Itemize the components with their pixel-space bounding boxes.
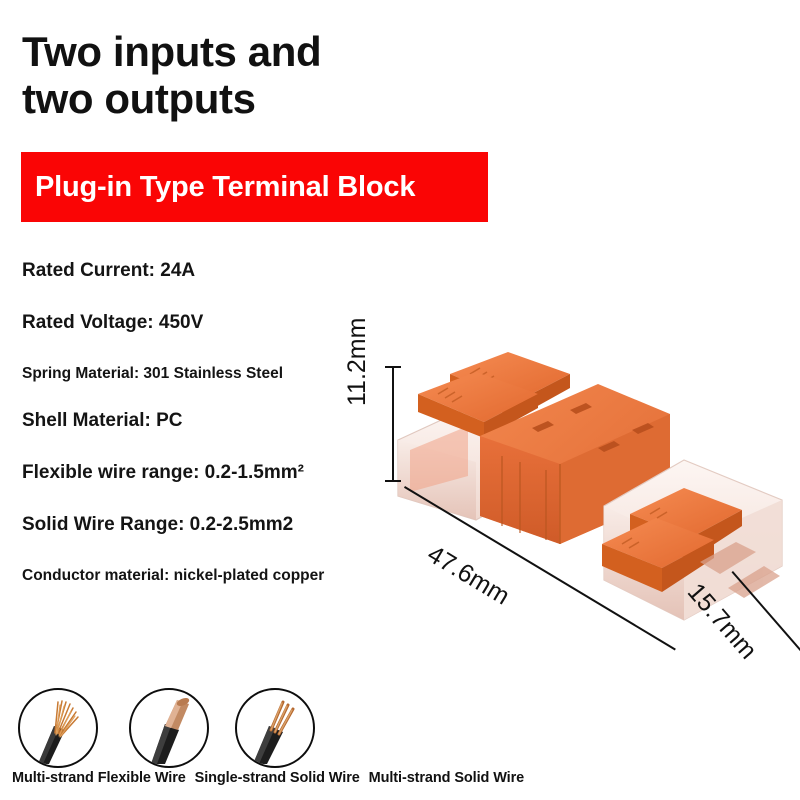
- product-type-banner: Plug-in Type Terminal Block: [21, 152, 488, 222]
- spec-conductor-material: Conductor material: nickel-plated copper: [22, 562, 382, 592]
- single-strand-solid-wire-icon: [129, 688, 209, 768]
- wire-caption-2: Multi-strand Solid Wire: [369, 770, 524, 786]
- multi-strand-solid-wire-icon: [235, 688, 315, 768]
- height-measure-line: [392, 366, 394, 482]
- multi-strand-flexible-wire-icon: [18, 688, 98, 768]
- wire-caption-1: Single-strand Solid Wire: [195, 770, 360, 786]
- page-title-line-2: two outputs: [22, 75, 482, 122]
- page-title: Two inputs and two outputs: [22, 28, 482, 122]
- spec-shell-material: Shell Material: PC: [22, 406, 382, 458]
- specification-list: Rated Current: 24A Rated Voltage: 450V S…: [22, 256, 382, 592]
- wire-type-captions: Multi-strand Flexible Wire Single-strand…: [12, 770, 529, 786]
- product-image: [384, 330, 800, 660]
- spec-rated-voltage: Rated Voltage: 450V: [22, 308, 382, 360]
- spec-rated-current: Rated Current: 24A: [22, 256, 382, 308]
- spec-flexible-wire-range: Flexible wire range: 0.2-1.5mm²: [22, 458, 382, 510]
- product-infographic: Two inputs and two outputs Plug-in Type …: [0, 0, 800, 800]
- wire-caption-0: Multi-strand Flexible Wire: [12, 770, 186, 786]
- page-title-line-1: Two inputs and: [22, 28, 482, 75]
- product-type-banner-label: Plug-in Type Terminal Block: [21, 171, 415, 204]
- height-measure-cap-bottom: [385, 480, 401, 482]
- spec-spring-material: Spring Material: 301 Stainless Steel: [22, 360, 382, 406]
- spec-solid-wire-range: Solid Wire Range: 0.2-2.5mm2: [22, 510, 382, 562]
- dimension-height-label: 11.2mm: [343, 318, 372, 406]
- height-measure-cap-top: [385, 366, 401, 368]
